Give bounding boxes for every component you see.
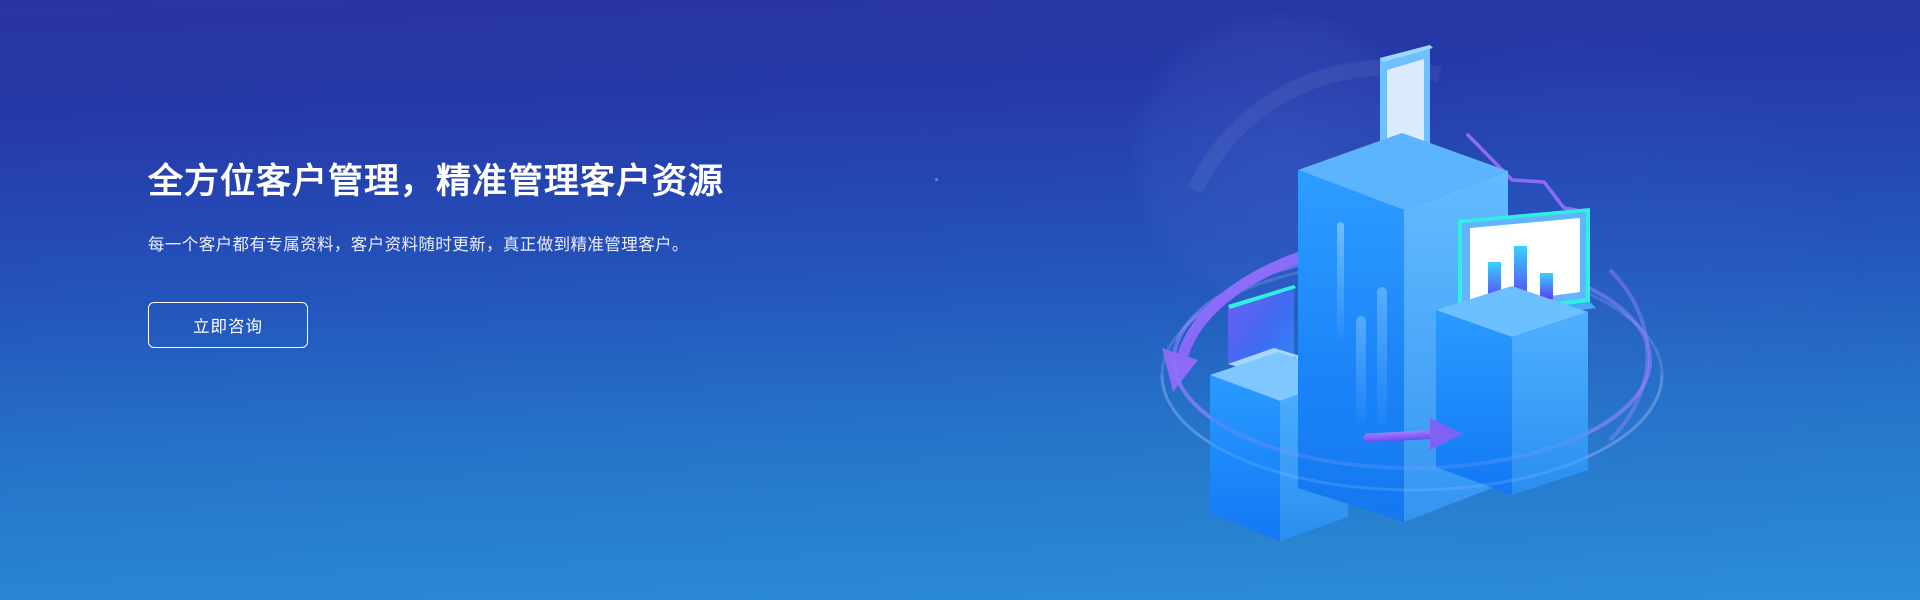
hero-illustration [1140, 30, 1680, 570]
pillar-glow-bar [1377, 287, 1387, 427]
background-sparkle-dot [935, 178, 938, 181]
page-title: 全方位客户管理，精准管理客户资源 [148, 160, 768, 204]
left-pillar-front [1210, 375, 1280, 541]
consult-now-button[interactable]: 立即咨询 [148, 302, 308, 348]
hero-banner: 全方位客户管理，精准管理客户资源 每一个客户都有专属资料，客户资料随时更新，真正… [0, 0, 1920, 600]
hero-text-block: 全方位客户管理，精准管理客户资源 每一个客户都有专属资料，客户资料随时更新，真正… [148, 160, 768, 348]
right-pillar-side [1512, 312, 1588, 495]
pillar-glow-bar [1337, 222, 1344, 340]
pillar-glow-bar [1356, 316, 1366, 424]
hero-subtitle: 每一个客户都有专属资料，客户资料随时更新，真正做到精准管理客户。 [148, 232, 748, 258]
right-pillar-group [1436, 208, 1596, 495]
monitor-bar [1540, 273, 1553, 299]
